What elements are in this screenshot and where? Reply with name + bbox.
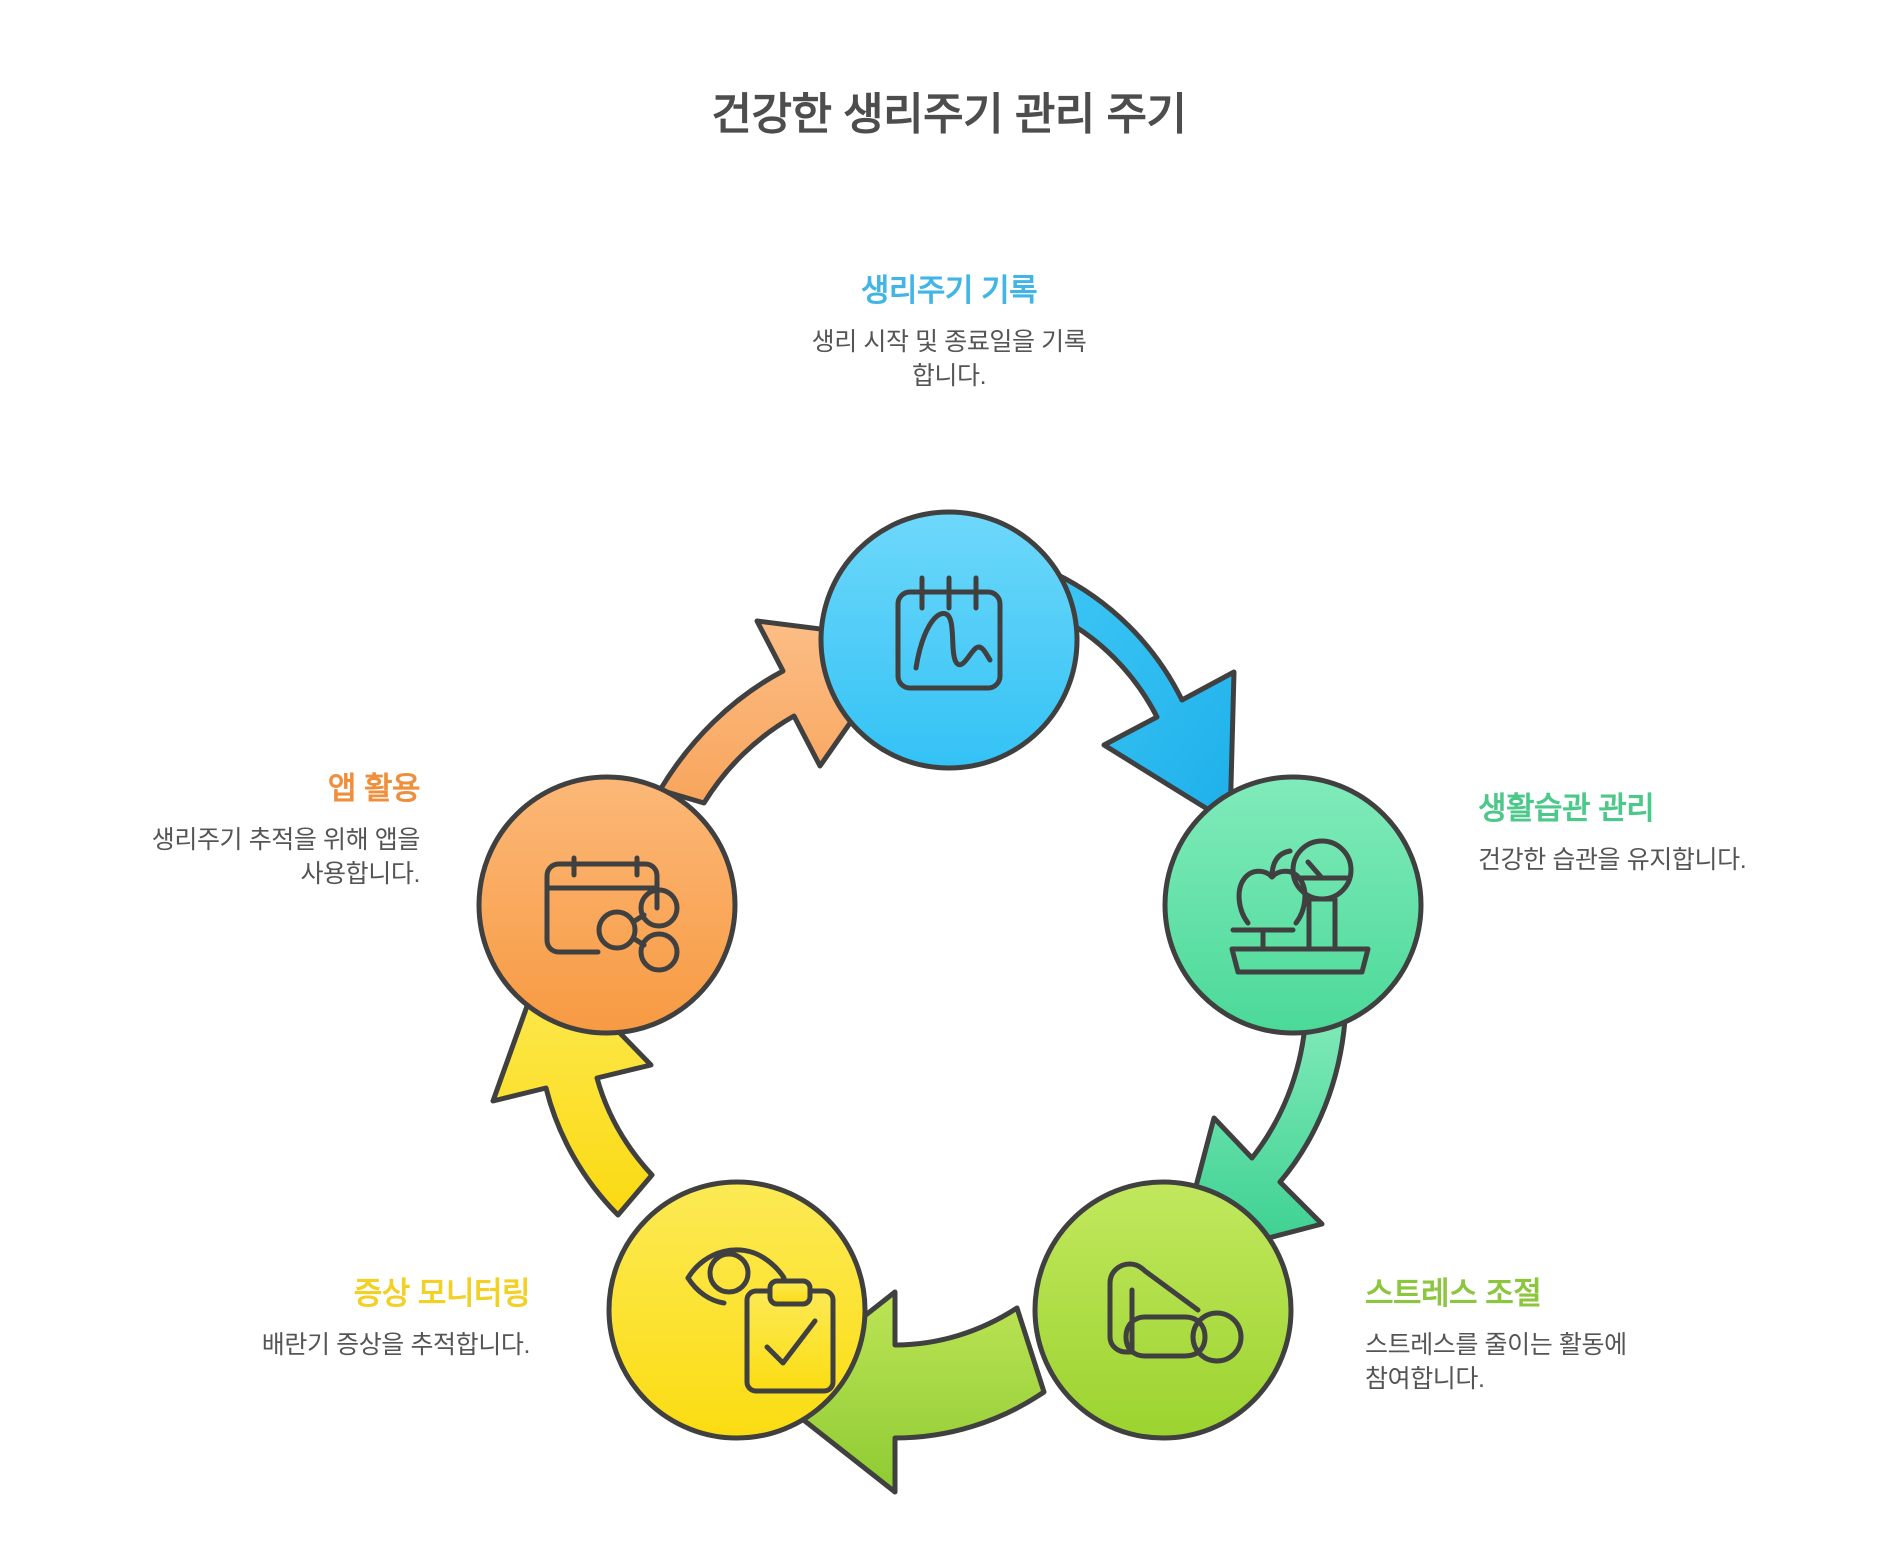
node-circle-stress[interactable] <box>1035 1182 1291 1438</box>
node-circle-app[interactable] <box>479 777 735 1033</box>
label-stress-title: 스트레스 조절 <box>1365 1275 1765 1314</box>
label-app: 앱 활용 생리주기 추적을 위해 앱을사용합니다. <box>20 770 420 892</box>
label-app-title: 앱 활용 <box>20 770 420 809</box>
label-record-desc: 생리 시작 및 종료일을 기록합니다. <box>649 325 1249 394</box>
label-symptom-title: 증상 모니터링 <box>60 1275 530 1314</box>
label-symptom: 증상 모니터링 배란기 증상을 추적합니다. <box>60 1275 530 1362</box>
node-circle-record[interactable] <box>821 512 1077 768</box>
label-stress-desc: 스트레스를 줄이는 활동에참여합니다. <box>1365 1328 1765 1397</box>
label-stress: 스트레스 조절 스트레스를 줄이는 활동에참여합니다. <box>1365 1275 1765 1397</box>
label-symptom-desc: 배란기 증상을 추적합니다. <box>60 1328 530 1363</box>
label-record: 생리주기 기록 생리 시작 및 종료일을 기록합니다. <box>649 272 1249 394</box>
label-lifestyle: 생활습관 관리 건강한 습관을 유지합니다. <box>1478 790 1878 877</box>
label-app-desc: 생리주기 추적을 위해 앱을사용합니다. <box>20 823 420 892</box>
cycle-diagram: 생리주기 기록 생리 시작 및 종료일을 기록합니다. 생활습관 관리 건강한 … <box>0 0 1898 1561</box>
label-lifestyle-desc: 건강한 습관을 유지합니다. <box>1478 843 1878 878</box>
label-record-title: 생리주기 기록 <box>649 272 1249 311</box>
arrow-record-to-lifestyle <box>1054 573 1234 823</box>
node-circle-lifestyle[interactable] <box>1165 777 1421 1033</box>
label-lifestyle-title: 생활습관 관리 <box>1478 790 1878 829</box>
